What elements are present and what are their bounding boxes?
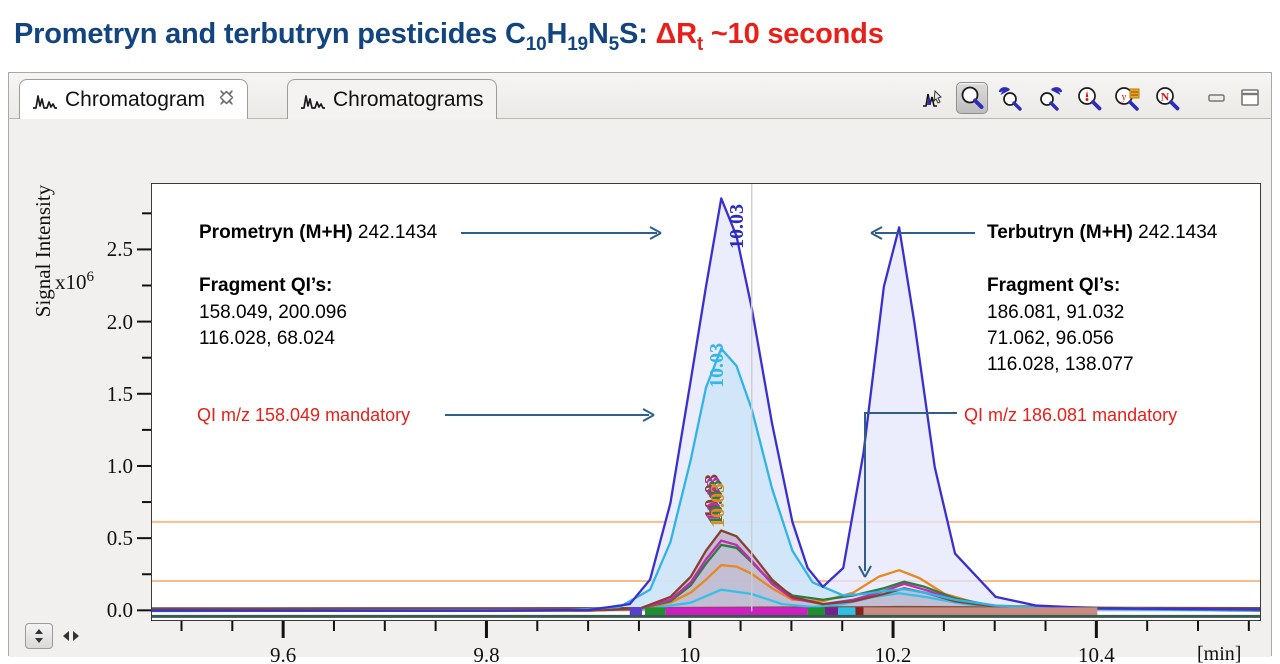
chromatogram-traces xyxy=(152,184,1260,620)
chart-panel: x106 Signal Intensity 0.00.51.01.52.02.5… xyxy=(9,119,1271,657)
baseline-marker-3 xyxy=(808,607,825,615)
y-axis-label: Signal Intensity xyxy=(31,151,56,351)
prometryn-fragment-line-1: 158.049, 200.096 xyxy=(199,302,347,324)
svg-text:N: N xyxy=(1161,90,1170,104)
y-exponent-base: x10 xyxy=(55,270,87,294)
tab-chromatograms-label: Chromatograms xyxy=(333,88,484,112)
peak-retention-label-1: 10.03 xyxy=(706,343,729,388)
plot-area[interactable]: 10.0310.0310.0310.0310.0310.03 xyxy=(151,183,1261,621)
prometryn-fragment-line-2: 116.028, 68.024 xyxy=(199,328,335,350)
tab-strip: Chromatogram Chromatograms xyxy=(9,73,1271,119)
chromatogram-window: Chromatogram Chromatograms xyxy=(8,72,1272,656)
chromatogram-icon xyxy=(32,90,58,110)
y-tick-label-4: 2.0 xyxy=(75,310,133,335)
baseline-marker-4 xyxy=(825,607,838,615)
horizontal-pan-icon[interactable] xyxy=(61,625,81,647)
chromatogram-icon xyxy=(300,90,326,110)
baseline-marker-0 xyxy=(630,607,642,615)
annotation-prometryn-title: Prometryn (M+H) 242.1434 xyxy=(199,222,437,244)
zoom-annotate-icon[interactable]: y xyxy=(1112,82,1144,114)
title-colon: : xyxy=(638,18,655,50)
y-axis-exponent: x106 xyxy=(55,269,94,295)
peak-retention-label-5: 10.03 xyxy=(707,483,730,528)
y-exponent-power: 6 xyxy=(87,269,95,285)
close-icon[interactable] xyxy=(218,88,235,112)
baseline-marker-1 xyxy=(645,607,665,615)
y-tick-label-5: 2.5 xyxy=(75,237,133,262)
x-tick-label-2: 10 xyxy=(650,643,730,664)
chart-toolbar: y N xyxy=(917,79,1263,117)
slide-root: Prometryn and terbutryn pesticides C10H1… xyxy=(0,0,1280,664)
y-tick-label-1: 0.5 xyxy=(75,526,133,551)
zoom-back-icon[interactable] xyxy=(995,82,1027,114)
annotation-terbutryn-title: Terbutryn (M+H) 242.1434 xyxy=(987,222,1217,244)
peak-detect-icon[interactable] xyxy=(917,82,949,114)
formula-sub-2: 19 xyxy=(567,34,588,55)
terbutryn-name: Terbutryn (M+H) xyxy=(987,222,1133,243)
formula-el-1: H xyxy=(546,18,567,50)
x-tick-label-0: 9.6 xyxy=(243,643,323,664)
tab-chromatogram-label: Chromatogram xyxy=(65,88,205,112)
baseline-marker-5 xyxy=(838,607,855,615)
peak-retention-label-0: 10.03 xyxy=(726,204,749,249)
x-tick-label-1: 9.8 xyxy=(446,643,526,664)
page-title: Prometryn and terbutryn pesticides C10H1… xyxy=(14,18,884,56)
prometryn-mass: 242.1434 xyxy=(353,222,438,243)
x-axis-unit: [min] xyxy=(1197,643,1241,664)
formula-el-3: S xyxy=(619,18,638,50)
title-text-main: Prometryn and terbutryn pesticides C xyxy=(14,18,526,50)
terbutryn-fragment-line-2: 71.062, 96.056 xyxy=(987,328,1114,350)
zoom-forward-icon[interactable] xyxy=(1034,82,1066,114)
title-accent-seconds: ~10 seconds xyxy=(703,18,884,50)
bottom-controls xyxy=(25,623,81,649)
terbutryn-mass: 242.1434 xyxy=(1133,222,1218,243)
minimize-icon[interactable] xyxy=(1204,87,1230,109)
terbutryn-fragments-header: Fragment QI’s: xyxy=(987,275,1120,297)
maximize-icon[interactable] xyxy=(1237,87,1263,109)
tab-chromatogram[interactable]: Chromatogram xyxy=(19,79,248,119)
prometryn-fragments-header: Fragment QI’s: xyxy=(199,275,332,297)
baseline-marker-6 xyxy=(855,607,863,615)
prometryn-qi-note: QI m/z 158.049 mandatory xyxy=(197,405,410,426)
x-tick-label-4: 10.4 xyxy=(1056,643,1136,664)
y-tick-label-2: 1.0 xyxy=(75,454,133,479)
zoom-normalize-icon[interactable]: N xyxy=(1151,82,1183,114)
zoom-magnifier-icon[interactable] xyxy=(956,82,988,114)
title-accent-delta-rt: ΔR xyxy=(656,18,697,50)
baseline-marker-7 xyxy=(864,607,1098,615)
x-tick-label-3: 10.2 xyxy=(853,643,933,664)
terbutryn-fragment-line-3: 116.028, 138.077 xyxy=(987,354,1134,376)
formula-el-2: N xyxy=(588,18,609,50)
prometryn-name: Prometryn (M+H) xyxy=(199,222,353,243)
terbutryn-qi-note: QI m/z 186.081 mandatory xyxy=(964,405,1177,426)
tab-chromatograms[interactable]: Chromatograms xyxy=(287,79,497,119)
baseline-marker-2 xyxy=(665,607,807,615)
formula-sub-1: 10 xyxy=(526,34,547,55)
y-tick-label-3: 1.5 xyxy=(75,382,133,407)
y-tick-label-0: 0.0 xyxy=(75,598,133,623)
zoom-alert-icon[interactable] xyxy=(1073,82,1105,114)
terbutryn-fragment-line-1: 186.081, 91.032 xyxy=(987,302,1124,324)
vertical-scale-button[interactable] xyxy=(25,623,53,649)
formula-sub-3: 5 xyxy=(609,34,619,55)
svg-text:y: y xyxy=(1122,92,1127,103)
